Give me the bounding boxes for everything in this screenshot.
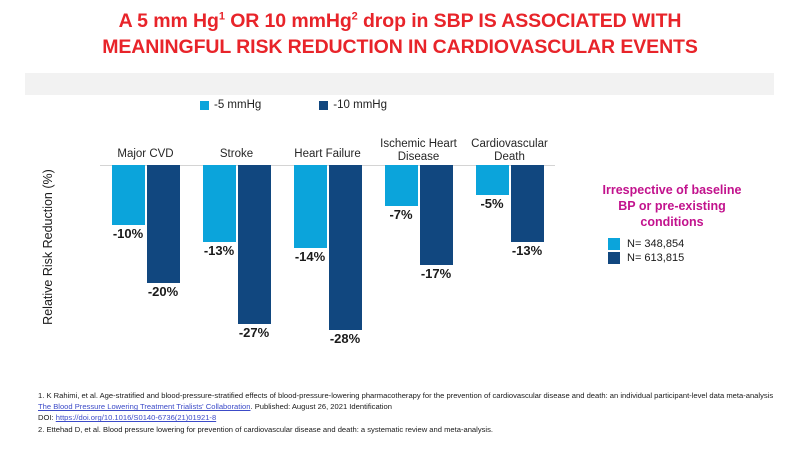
bars-4: -5% -13% [464, 165, 555, 242]
callout-line-1: Irrespective of baseline [578, 182, 766, 198]
bar-value-0-0: -10% [113, 226, 143, 241]
callout-text: Irrespective of baseline BP or pre-exist… [578, 182, 766, 230]
title-line-1: A 5 mm Hg1 OR 10 mmHg2 drop in SBP IS AS… [0, 8, 800, 34]
legend-swatch-icon-dark [319, 101, 328, 110]
bars-3: -7% -17% [373, 165, 464, 265]
plot-area: Major CVD -10% -20% Stroke [100, 123, 555, 373]
y-axis-label: Relative Risk Reduction (%) [41, 147, 55, 347]
bar-wrap-3-0[interactable]: -7% [385, 165, 418, 265]
bar-2-0[interactable] [294, 165, 327, 248]
bar-group-heart-failure: Heart Failure -14% -28% [282, 123, 373, 373]
footnote-doi: DOI: https://doi.org/10.1016/S0140-6736(… [38, 412, 778, 423]
bar-3-0[interactable] [385, 165, 418, 206]
bar-wrap-0-0[interactable]: -10% [112, 165, 145, 283]
bar-group-cardiovascular-death: Cardiovascular Death -5% -13% [464, 123, 555, 373]
category-label-2: Heart Failure [294, 148, 360, 161]
bar-value-2-0: -14% [295, 249, 325, 264]
bar-value-3-1: -17% [421, 266, 451, 281]
bar-value-0-1: -20% [148, 284, 178, 299]
bar-wrap-4-1[interactable]: -13% [511, 165, 544, 242]
bar-group-major-cvd: Major CVD -10% -20% [100, 123, 191, 373]
category-label-4: Cardiovascular Death [468, 138, 552, 164]
bars-2: -14% -28% [282, 165, 373, 330]
bar-1-1[interactable] [238, 165, 271, 324]
slide: A 5 mm Hg1 OR 10 mmHg2 drop in SBP IS AS… [0, 0, 800, 450]
header-band [25, 73, 774, 95]
callout-panel: Irrespective of baseline BP or pre-exist… [570, 95, 774, 377]
bar-4-1[interactable] [511, 165, 544, 242]
page-title: A 5 mm Hg1 OR 10 mmHg2 drop in SBP IS AS… [0, 8, 800, 60]
callout-line-3: conditions [578, 214, 766, 230]
bars-0: -10% -20% [100, 165, 191, 283]
bar-3-1[interactable] [420, 165, 453, 265]
legend-item-series-0[interactable]: -5 mmHg [200, 99, 261, 111]
bar-wrap-4-0[interactable]: -5% [476, 165, 509, 242]
bar-wrap-2-0[interactable]: -14% [294, 165, 327, 330]
bar-wrap-1-0[interactable]: -13% [203, 165, 236, 324]
footnote-1: 1. K Rahimi, et al. Age-stratified and b… [38, 390, 778, 412]
bar-2-1[interactable] [329, 165, 362, 330]
bar-4-0[interactable] [476, 165, 509, 195]
sample-size-label-0: N= 348,854 [627, 238, 684, 250]
footnote-2: 2. Ettehad D, et al. Blood pressure lowe… [38, 424, 778, 435]
legend-item-series-1[interactable]: -10 mmHg [319, 99, 387, 111]
bar-value-4-0: -5% [480, 196, 503, 211]
title-part-a: A 5 mm Hg [119, 10, 219, 32]
footnote-1-link[interactable]: The Blood Pressure Lowering Treatment Tr… [38, 402, 251, 411]
sample-size-row-0: N= 348,854 [608, 238, 684, 250]
category-label-0: Major CVD [117, 148, 173, 161]
footnote-1-text-a: 1. K Rahimi, et al. Age-stratified and b… [38, 391, 773, 400]
bar-0-1[interactable] [147, 165, 180, 283]
bars-1: -13% -27% [191, 165, 282, 324]
chart-legend: -5 mmHg -10 mmHg [25, 99, 562, 111]
sample-size-label-1: N= 613,815 [627, 252, 684, 264]
bar-group-stroke: Stroke -13% -27% [191, 123, 282, 373]
title-line-2: MEANINGFUL RISK REDUCTION IN CARDIOVASCU… [0, 34, 800, 60]
doi-link[interactable]: https://doi.org/10.1016/S0140-6736(21)01… [56, 413, 216, 422]
bar-value-2-1: -28% [330, 331, 360, 346]
bar-value-4-1: -13% [512, 243, 542, 258]
bar-value-1-0: -13% [204, 243, 234, 258]
bar-value-3-0: -7% [389, 207, 412, 222]
bar-value-1-1: -27% [239, 325, 269, 340]
legend-label-series-1: -10 mmHg [333, 99, 387, 111]
sample-size-legend: N= 348,854 N= 613,815 [608, 238, 684, 266]
callout-line-2: BP or pre-existing [578, 198, 766, 214]
sample-size-row-1: N= 613,815 [608, 252, 684, 264]
footnote-1-text-b: . Published: August 26, 2021 Identificat… [251, 402, 392, 411]
category-label-3: Ischemic Heart Disease [377, 138, 461, 164]
title-part-c: drop in SBP IS ASSOCIATED WITH [358, 10, 682, 32]
category-label-1: Stroke [220, 148, 253, 161]
bar-0-0[interactable] [112, 165, 145, 225]
bar-group-ischemic-heart-disease: Ischemic Heart Disease -7% -17% [373, 123, 464, 373]
bar-wrap-3-1[interactable]: -17% [420, 165, 453, 265]
chart-panel: -5 mmHg -10 mmHg Relative Risk Reduction… [25, 95, 562, 377]
sample-swatch-icon-light [608, 238, 620, 250]
bar-wrap-1-1[interactable]: -27% [238, 165, 271, 324]
sample-swatch-icon-dark [608, 252, 620, 264]
legend-swatch-icon-light [200, 101, 209, 110]
bar-wrap-2-1[interactable]: -28% [329, 165, 362, 330]
title-part-b: OR 10 mmHg [225, 10, 352, 32]
bar-1-0[interactable] [203, 165, 236, 242]
legend-label-series-0: -5 mmHg [214, 99, 261, 111]
footnotes: 1. K Rahimi, et al. Age-stratified and b… [38, 390, 778, 435]
bar-wrap-0-1[interactable]: -20% [147, 165, 180, 283]
doi-label: DOI: [38, 413, 56, 422]
